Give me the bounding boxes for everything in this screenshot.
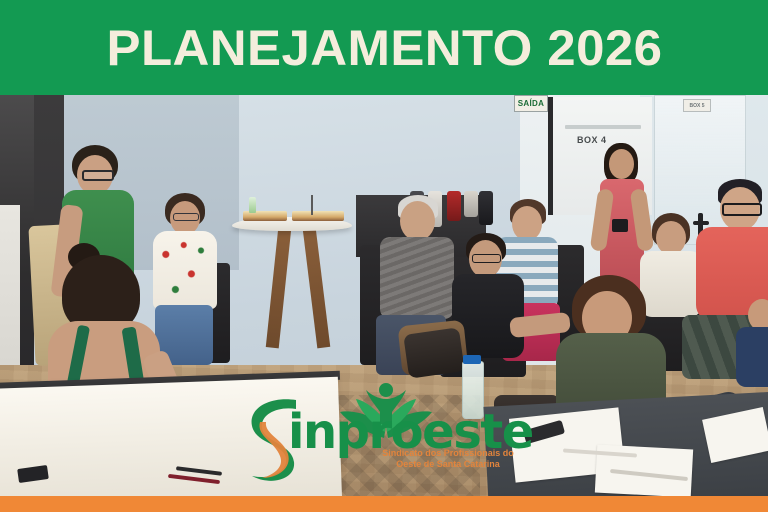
eyeglasses-icon [722,203,762,216]
torso-cream-shirt [640,251,702,317]
logo-tagline: Sindicato dos Profissionais do Oeste de … [358,448,538,470]
face [512,206,542,241]
small-room-sign: BOX 5 [683,99,711,112]
torso-striped-shirt [380,237,454,319]
thermos-flask [447,191,461,221]
logo-tagline-line1: Sindicato dos Profissionais do [358,448,538,459]
thermos-flask [479,191,493,225]
thermos-flask [464,191,478,217]
mobile-phone-icon [612,219,628,232]
snack-tray-right [292,211,344,221]
door-handle-horizontal [693,221,709,225]
logo-tagline-line2: Oeste de Santa Catarina [358,459,538,470]
face [656,221,686,255]
eyeglasses-icon [472,254,501,263]
logo-figure-head [379,383,393,397]
exit-sign: SAÍDA [514,95,548,112]
table-stand-wire [311,195,313,215]
torso [736,327,768,387]
sinproeste-logo: inproeste Sindicato dos Profissionais do… [236,382,536,488]
poster-canvas: PLANEJAMENTO 2026 SAÍDA BOX 4 BOX 5 [0,0,768,512]
face [400,201,435,241]
eyeglasses-icon [82,170,114,181]
torso-floral-blouse [153,231,217,309]
page-title: PLANEJAMENTO 2026 [106,23,662,73]
header-banner: PLANEJAMENTO 2026 [0,0,768,95]
eyeglasses-icon [173,213,199,221]
logo-swoosh-orange [259,422,288,478]
footer-orange-bar [0,496,768,512]
bottle-cap [463,355,481,364]
small-bottle [249,197,256,213]
door-label-box4: BOX 4 [577,135,607,145]
door-slot [565,125,641,129]
face [609,149,634,179]
bag-dark [403,327,465,378]
